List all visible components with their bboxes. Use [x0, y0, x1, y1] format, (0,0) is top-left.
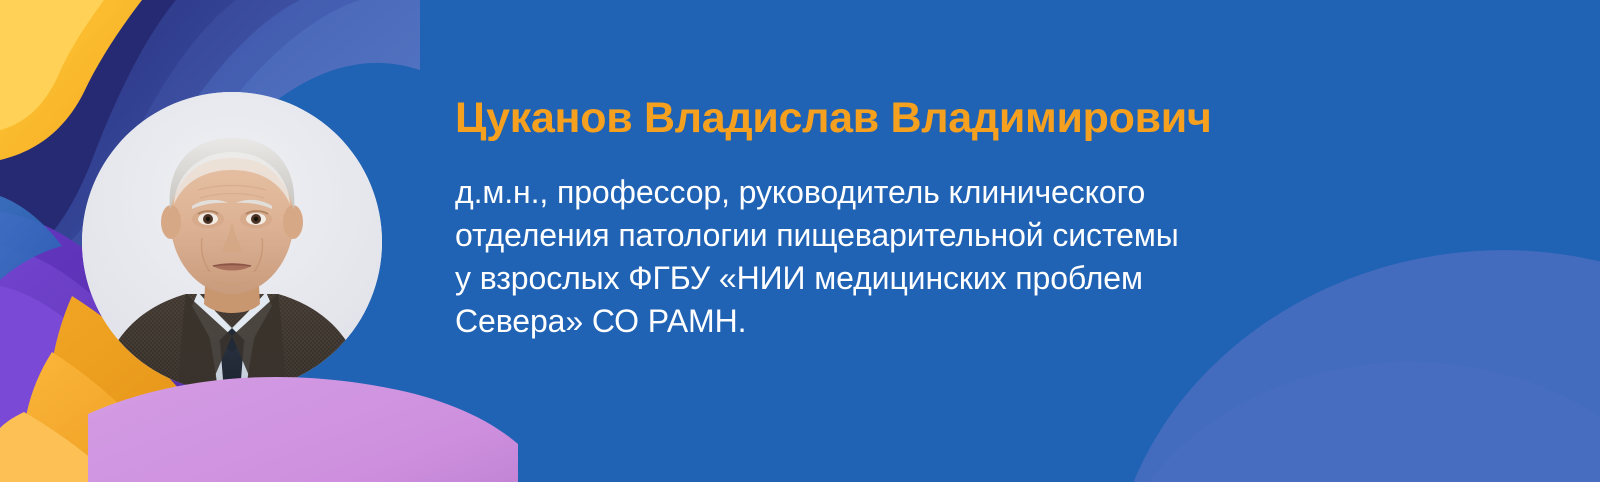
description-line: Севера» СО РАМН. [455, 300, 1455, 343]
speaker-profile-banner: Цуканов Владислав Владимирович д.м.н., п… [0, 0, 1600, 482]
description-line: д.м.н., профессор, руководитель клиничес… [455, 171, 1455, 214]
description-line: у взрослых ФГБУ «НИИ медицинских проблем [455, 257, 1455, 300]
decorative-lavender-blob [88, 360, 518, 482]
speaker-text-block: Цуканов Владислав Владимирович д.м.н., п… [455, 96, 1455, 343]
description-line: отделения патологии пищеварительной сист… [455, 214, 1455, 257]
speaker-portrait-photo [82, 92, 382, 392]
speaker-name-title: Цуканов Владислав Владимирович [455, 96, 1455, 141]
speaker-description: д.м.н., профессор, руководитель клиничес… [455, 171, 1455, 343]
